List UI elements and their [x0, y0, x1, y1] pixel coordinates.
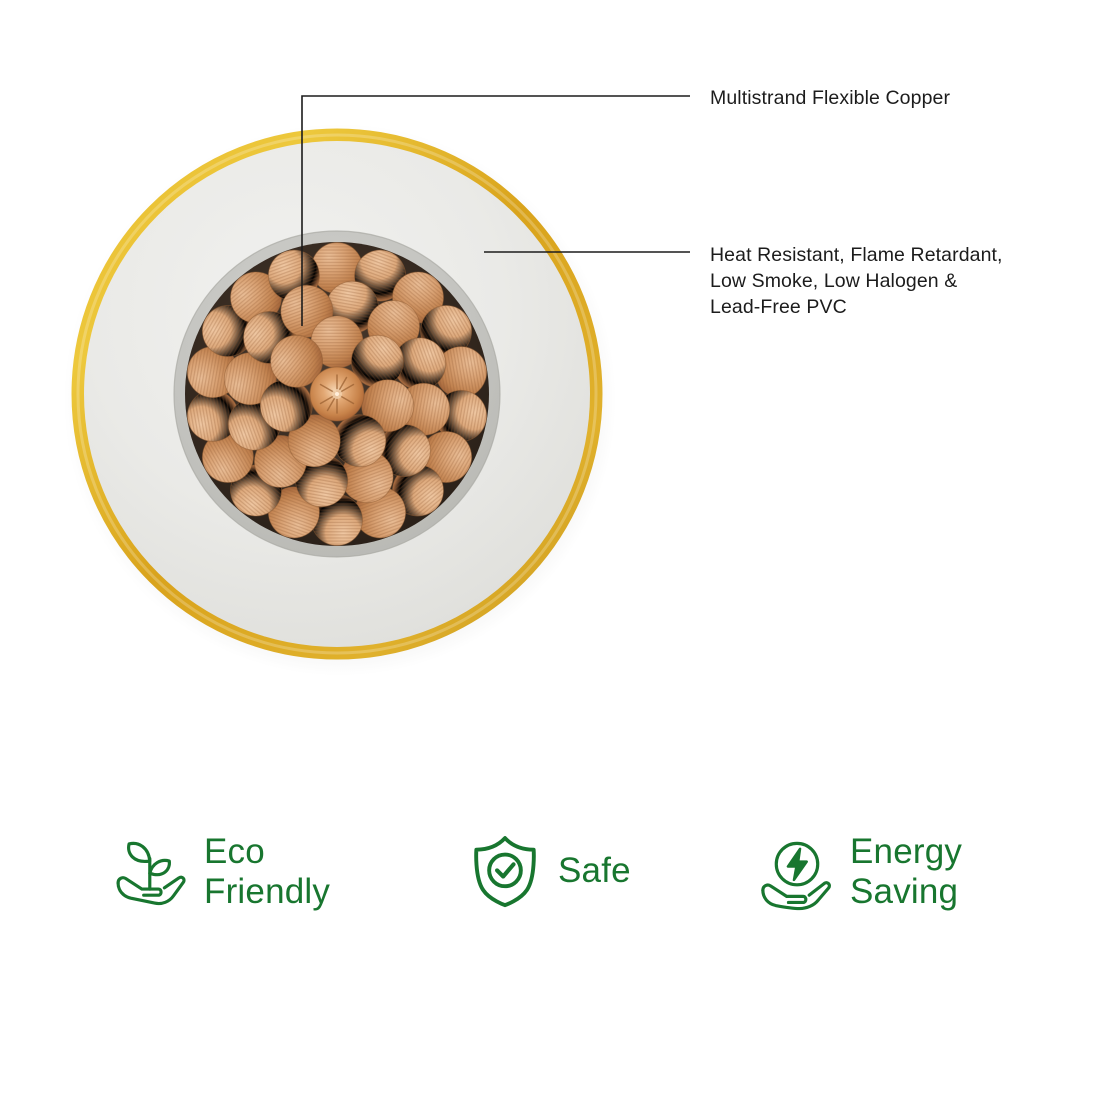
callout-label-pvc: Heat Resistant, Flame Retardant, Low Smo… — [710, 242, 1003, 320]
feature-safe[interactable]: Safe — [466, 832, 631, 910]
cable-cross-section-diagram — [0, 0, 1100, 760]
shield-check-icon — [466, 832, 544, 910]
feature-badge-row: Eco Friendly Safe Energy Saving — [0, 812, 1100, 952]
callout-label-copper: Multistrand Flexible Copper — [710, 85, 950, 111]
copper-strand-bundle — [183, 242, 490, 546]
strand-center — [310, 367, 364, 421]
hand-sprout-icon — [112, 833, 190, 911]
product-infographic: Multistrand Flexible Copper Heat Resista… — [0, 0, 1100, 1100]
feature-energy-saving[interactable]: Energy Saving — [758, 832, 962, 912]
feature-eco-friendly[interactable]: Eco Friendly — [112, 832, 330, 912]
feature-safe-label: Safe — [558, 851, 631, 891]
feature-energy-saving-label: Energy Saving — [850, 832, 962, 912]
feature-eco-friendly-label: Eco Friendly — [204, 832, 330, 912]
hand-bolt-icon — [758, 833, 836, 911]
